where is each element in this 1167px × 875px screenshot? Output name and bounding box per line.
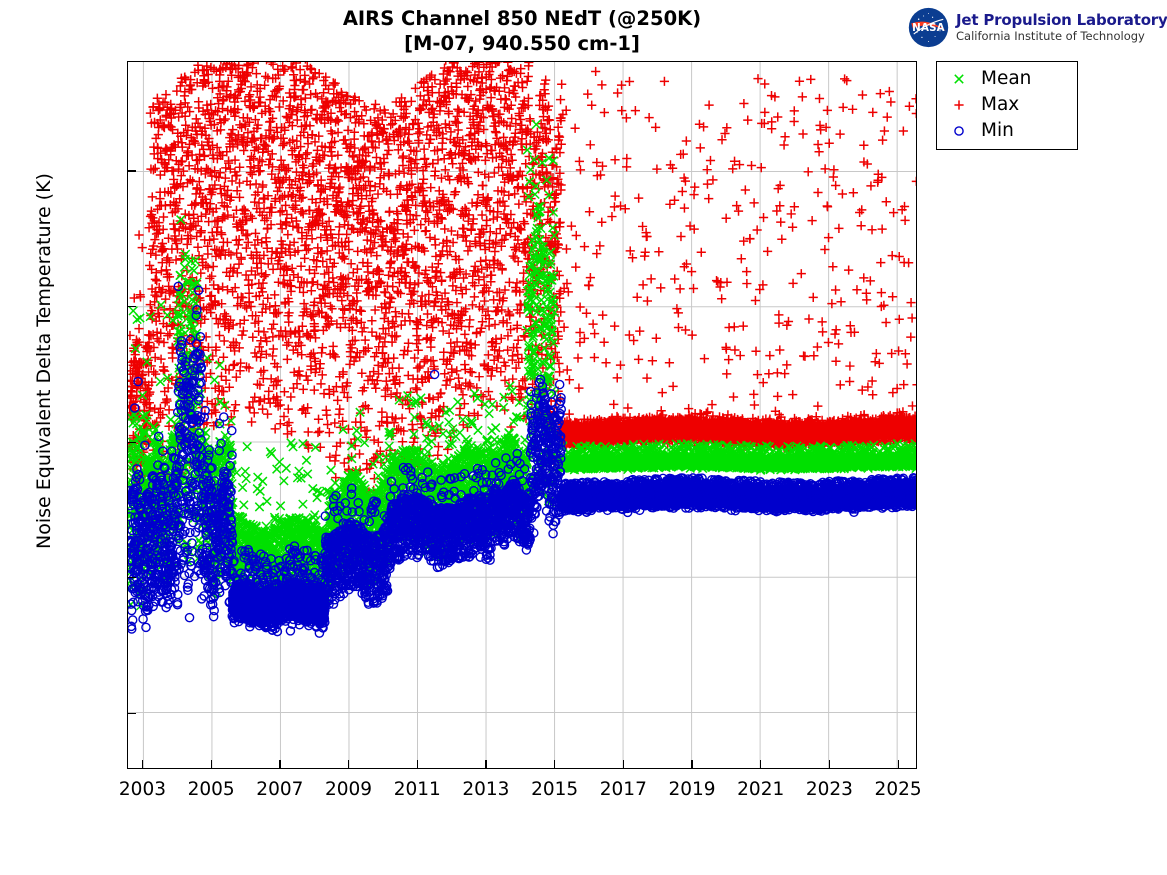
jpl-name: Jet Propulsion Laboratory bbox=[956, 12, 1167, 29]
x-tick-label: 2023 bbox=[806, 779, 853, 800]
x-tick-label: 2015 bbox=[531, 779, 578, 800]
x-tick-mark bbox=[485, 760, 486, 769]
x-tick-label: 2017 bbox=[600, 779, 647, 800]
x-tick-label: 2003 bbox=[119, 779, 166, 800]
chart-title-line-2: [M-07, 940.550 cm-1] bbox=[127, 31, 917, 56]
legend-item-max[interactable]: Max bbox=[937, 92, 1077, 118]
figure-root: AIRS Channel 850 NEdT (@250K) [M-07, 940… bbox=[0, 0, 1167, 875]
y-tick-mark bbox=[127, 442, 136, 443]
plot-area bbox=[127, 61, 917, 769]
y-tick-mark bbox=[127, 306, 136, 307]
x-tick-mark bbox=[348, 760, 349, 769]
chart-title-line-1: AIRS Channel 850 NEdT (@250K) bbox=[127, 6, 917, 31]
x-tick-label: 2009 bbox=[325, 779, 372, 800]
x-tick-mark bbox=[829, 760, 830, 769]
nasa-meatball-icon: NASA bbox=[908, 7, 949, 48]
nasa-jpl-logo: NASA Jet Propulsion Laboratory Californi… bbox=[908, 6, 1158, 48]
x-tick-mark bbox=[691, 760, 692, 769]
x-tick-mark bbox=[211, 760, 212, 769]
x-tick-label: 2021 bbox=[737, 779, 784, 800]
legend-label: Min bbox=[981, 118, 1014, 144]
y-tick-mark bbox=[127, 577, 136, 578]
x-tick-mark bbox=[623, 760, 624, 769]
jpl-wordmark: Jet Propulsion Laboratory California Ins… bbox=[956, 12, 1167, 43]
x-tick-mark bbox=[554, 760, 555, 769]
x-tick-label: 2013 bbox=[462, 779, 509, 800]
x-tick-label: 2005 bbox=[188, 779, 235, 800]
legend-item-mean[interactable]: Mean bbox=[937, 66, 1077, 92]
x-tick-mark bbox=[279, 760, 280, 769]
chart-legend: MeanMaxMin bbox=[936, 61, 1078, 150]
legend-item-min[interactable]: Min bbox=[937, 118, 1077, 144]
legend-label: Max bbox=[981, 92, 1019, 118]
svg-text:NASA: NASA bbox=[912, 22, 945, 34]
x-tick-mark bbox=[142, 760, 143, 769]
legend-marker-plus-icon bbox=[937, 92, 981, 118]
data-layer bbox=[128, 62, 916, 768]
legend-label: Mean bbox=[981, 66, 1031, 92]
x-tick-mark bbox=[417, 760, 418, 769]
y-tick-mark bbox=[127, 713, 136, 714]
chart-title: AIRS Channel 850 NEdT (@250K) [M-07, 940… bbox=[127, 6, 917, 56]
y-tick-mark bbox=[127, 170, 136, 171]
x-tick-mark bbox=[760, 760, 761, 769]
x-tick-label: 2025 bbox=[875, 779, 922, 800]
legend-marker-crcircless-icon bbox=[937, 66, 981, 92]
legend-marker-circle-icon bbox=[937, 118, 981, 144]
jpl-affiliation: California Institute of Technology bbox=[956, 29, 1167, 43]
y-axis-label: Noise Equivalent Delta Temperature (K) bbox=[33, 81, 55, 641]
x-tick-mark bbox=[898, 760, 899, 769]
x-tick-label: 2011 bbox=[394, 779, 441, 800]
x-tick-label: 2019 bbox=[668, 779, 715, 800]
x-tick-label: 2007 bbox=[256, 779, 303, 800]
